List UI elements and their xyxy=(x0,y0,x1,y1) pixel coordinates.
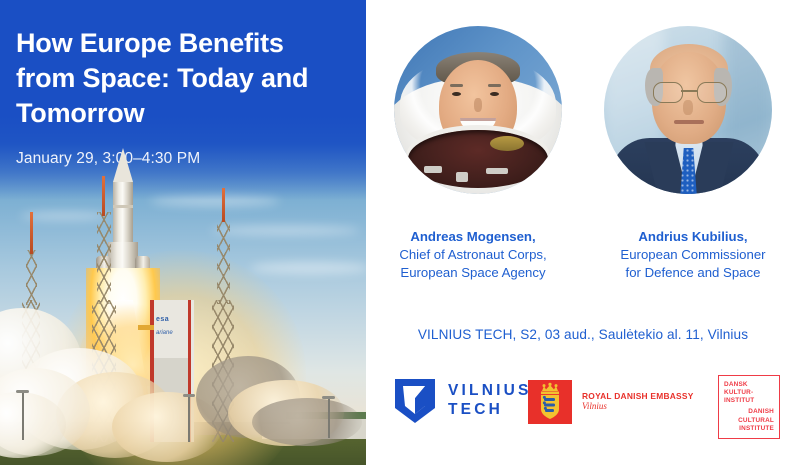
lightning-rod xyxy=(222,188,225,222)
rocket-launch-photo: esa ariane How Europe Benefits from Spac… xyxy=(0,0,366,465)
glasses-bridge xyxy=(681,90,697,92)
lightning-mast-lattice xyxy=(97,212,111,304)
ariane-logo-text: ariane xyxy=(156,330,173,336)
embassy-line1: ROYAL DANISH EMBASSY xyxy=(582,391,694,401)
embassy-line2: Vilnius xyxy=(582,401,694,413)
speaker-role-line2: European Space Agency xyxy=(400,265,545,280)
eyebrow xyxy=(488,84,501,87)
speaker-caption: Andrius Kubilius, European Commissioner … xyxy=(598,228,788,283)
vilnius-tech-line1: VILNIUS xyxy=(448,382,532,401)
event-poster: esa ariane How Europe Benefits from Spac… xyxy=(0,0,800,465)
nose xyxy=(683,100,693,115)
eyebrow xyxy=(450,84,463,87)
vilnius-tech-shield-icon xyxy=(394,378,436,424)
speaker-caption: Andreas Mogensen, Chief of Astronaut Cor… xyxy=(378,228,568,283)
lens xyxy=(697,82,727,103)
cloud-wisp xyxy=(250,262,366,274)
vilnius-tech-line2: TECH xyxy=(448,401,532,420)
avatar xyxy=(604,26,772,194)
neck-ring-latch xyxy=(490,136,524,151)
lamp-post xyxy=(328,398,330,438)
rocket-upper-stage xyxy=(113,182,133,242)
eye xyxy=(490,92,499,96)
cloud-wisp xyxy=(210,226,360,235)
page-title: How Europe Benefits from Space: Today an… xyxy=(16,26,346,131)
dki-line2: KULTUR- xyxy=(724,389,754,397)
nose xyxy=(474,98,482,112)
lens xyxy=(653,82,683,103)
umbilical-arm xyxy=(138,325,154,330)
eye xyxy=(452,92,461,96)
speaker-role-line2: for Defence and Space xyxy=(626,265,761,280)
avatar xyxy=(394,26,562,194)
speaker-name: Andreas Mogensen, xyxy=(410,229,535,244)
embassy-wordmark: ROYAL DANISH EMBASSY Vilnius xyxy=(582,391,694,413)
esa-logo-text: esa xyxy=(156,316,169,323)
mouth xyxy=(674,120,704,124)
dki-line6: INSTITUTE xyxy=(738,425,774,433)
eyeglasses xyxy=(653,82,725,102)
dki-line5: CULTURAL xyxy=(738,417,774,425)
rocket-nose-cone xyxy=(113,148,133,182)
dki-line3: INSTITUT xyxy=(724,397,754,405)
speaker-role-line1: Chief of Astronaut Corps, xyxy=(399,247,546,262)
lamp-head xyxy=(183,394,195,397)
coat-of-arms-svg xyxy=(528,380,572,424)
lightning-rod xyxy=(102,176,105,216)
vilnius-tech-logo: VILNIUS TECH xyxy=(394,378,532,424)
suit-fitting xyxy=(424,166,442,173)
suit-fitting xyxy=(456,172,468,182)
speaker-role-line1: European Commissioner xyxy=(620,247,765,262)
vilnius-tech-wordmark: VILNIUS TECH xyxy=(448,382,532,420)
speaker-name: Andrius Kubilius, xyxy=(638,229,747,244)
event-date-time: January 29, 3:00–4:30 PM xyxy=(16,150,346,168)
royal-danish-embassy-logo: ROYAL DANISH EMBASSY Vilnius xyxy=(528,380,694,424)
speaker-portraits xyxy=(366,26,800,194)
dki-line1: DANSK xyxy=(724,381,754,389)
lamp-post xyxy=(188,396,190,442)
lamp-head xyxy=(322,396,335,399)
lamp-head xyxy=(16,390,29,393)
lamp-post xyxy=(22,392,24,440)
lightning-mast-lattice xyxy=(26,250,37,305)
helmet-neck-ring xyxy=(408,130,548,188)
content-panel: Andreas Mogensen, Chief of Astronaut Cor… xyxy=(366,0,800,465)
smoke-cloud xyxy=(252,398,362,446)
dki-english-name: DANISH CULTURAL INSTITUTE xyxy=(738,408,774,433)
venue-address: VILNIUS TECH, S2, 03 aud., Saulėtekio al… xyxy=(366,327,800,342)
dki-danish-name: DANSK KULTUR- INSTITUT xyxy=(724,381,754,406)
lightning-mast-lattice xyxy=(217,218,230,304)
lightning-rod xyxy=(30,212,33,254)
suit-fitting xyxy=(486,168,508,174)
danish-cultural-institute-logo: DANSK KULTUR- INSTITUT DANISH CULTURAL I… xyxy=(718,375,780,439)
danish-coat-of-arms-icon xyxy=(528,380,572,424)
rocket-band xyxy=(113,205,133,208)
dki-line4: DANISH xyxy=(738,408,774,416)
speaker-captions: Andreas Mogensen, Chief of Astronaut Cor… xyxy=(366,228,800,283)
sponsor-logos: VILNIUS TECH xyxy=(366,372,800,444)
